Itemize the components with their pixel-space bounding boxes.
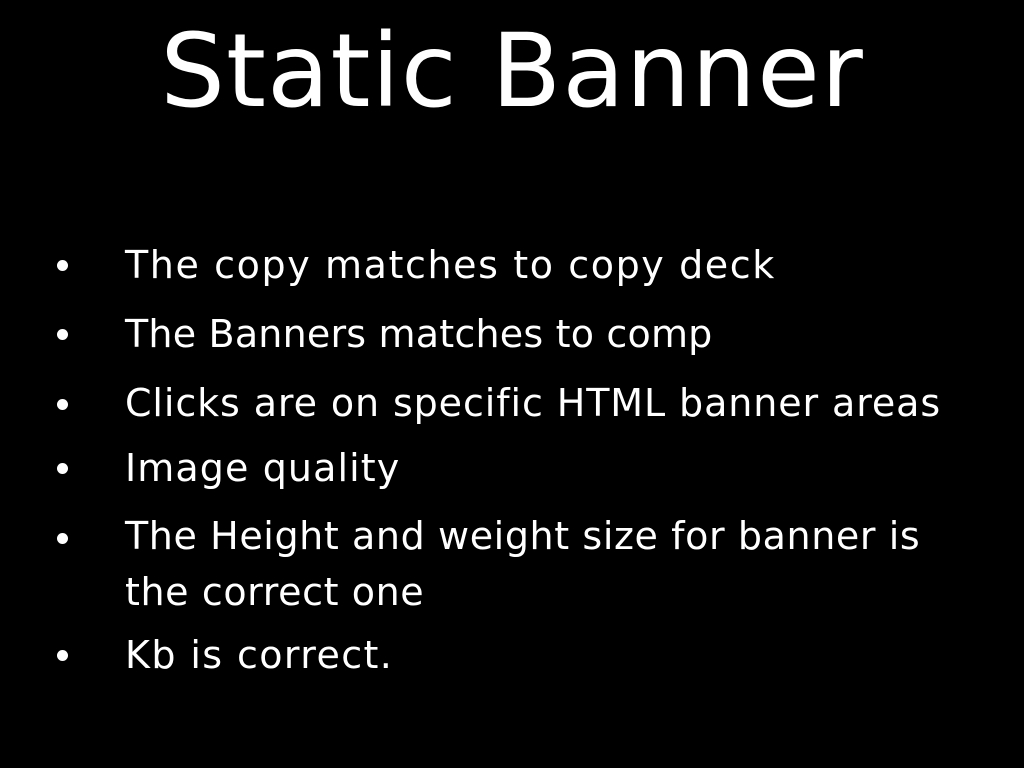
slide-title: Static Banner <box>0 8 1024 136</box>
list-item: Image quality <box>0 439 1024 497</box>
list-item-label: The copy matches to copy deck <box>125 236 984 294</box>
list-item: The copy matches to copy deck <box>0 236 1024 294</box>
list-item-label: Kb is correct. <box>125 626 984 684</box>
list-item: Kb is correct. <box>0 626 1024 684</box>
list-item: The Height and weight size for banner is… <box>0 508 1024 620</box>
list-item-label: Clicks are on specific HTML banner areas <box>125 374 984 433</box>
list-item: The Banners matches to comp <box>0 305 1024 363</box>
bullet-point-icon <box>57 329 68 340</box>
bullet-point-icon <box>57 260 68 271</box>
list-item-label: The Banners matches to comp <box>125 305 984 363</box>
bullet-point-icon <box>57 533 68 544</box>
bullet-point-icon <box>57 650 68 661</box>
list-item-label: Image quality <box>125 439 984 497</box>
bullet-point-icon <box>57 399 68 410</box>
list-item-label: The Height and weight size for banner is… <box>125 508 984 620</box>
list-item: Clicks are on specific HTML banner areas <box>0 374 1024 433</box>
presentation-slide: Static Banner The copy matches to copy d… <box>0 0 1024 768</box>
bullet-point-icon <box>57 463 68 474</box>
bullet-list: The copy matches to copy deck The Banner… <box>0 236 1024 684</box>
